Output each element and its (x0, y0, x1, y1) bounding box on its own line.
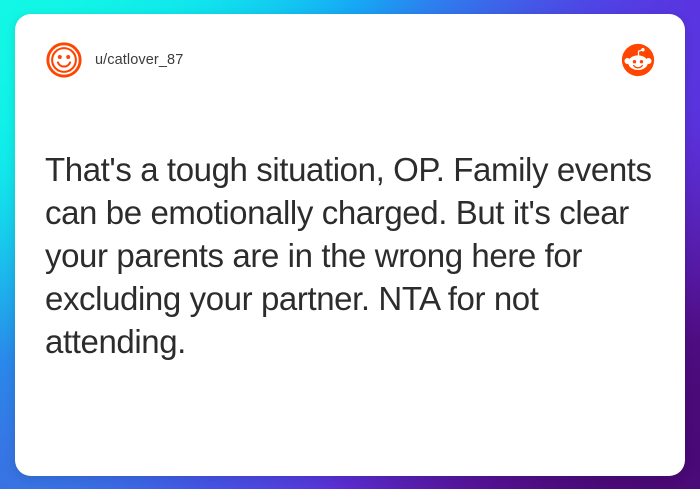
smiley-face-avatar-icon (45, 41, 83, 79)
card-header: u/catlover_87 (45, 38, 655, 82)
reddit-comment-card: u/catlover_87 That's a tough situa (15, 14, 685, 476)
gradient-background: u/catlover_87 That's a tough situa (0, 0, 700, 489)
reddit-snoo-icon (621, 43, 655, 77)
author-block[interactable]: u/catlover_87 (45, 41, 183, 79)
comment-text: That's a tough situation, OP. Family eve… (45, 148, 655, 363)
author-username: u/catlover_87 (95, 52, 183, 68)
card-body: That's a tough situation, OP. Family eve… (45, 82, 655, 476)
